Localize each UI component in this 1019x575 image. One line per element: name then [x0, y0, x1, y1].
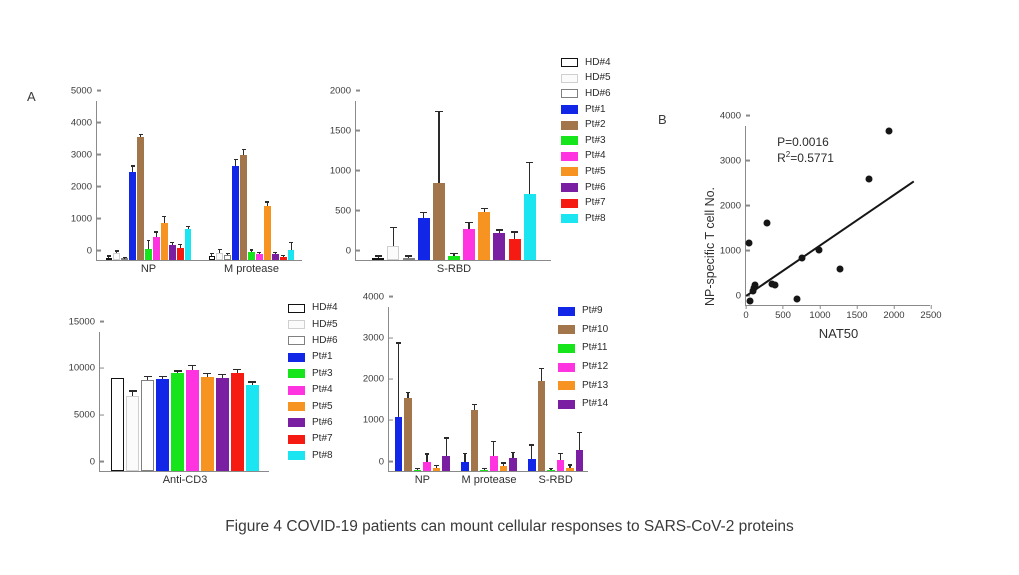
scatter-point: [745, 240, 752, 247]
error-bar-cap: [233, 369, 241, 370]
bar-Pt3-NP: [145, 249, 151, 260]
error-bar-cap: [491, 441, 496, 442]
error-bar: [235, 160, 236, 165]
bar-Pt14-S-RBD: [576, 450, 584, 471]
r-squared-text: R2=0.5771: [777, 150, 834, 166]
error-bar-cap: [265, 201, 269, 202]
legend-label-HD5: HD#5: [585, 73, 611, 83]
error-bar: [453, 254, 454, 255]
legend-label-Pt10: Pt#10: [582, 325, 608, 335]
bar-Pt2-NP: [137, 137, 143, 260]
error-bar: [227, 254, 228, 255]
error-bar-cap: [242, 149, 246, 150]
error-bar: [147, 377, 148, 380]
error-bar: [484, 469, 485, 470]
legend-label-Pt1: Pt#1: [312, 352, 333, 362]
error-bar-cap: [526, 162, 534, 163]
legend-item-HD6: HD#6: [561, 86, 611, 102]
error-bar: [423, 213, 424, 218]
legend-swatch-Pt7: [561, 199, 578, 208]
bar-Pt1-S-RBD: [418, 218, 430, 260]
y-tick-label: 0: [736, 291, 746, 301]
legend-item-Pt12: Pt#12: [558, 358, 608, 377]
legend-label-Pt8: Pt#8: [585, 214, 606, 224]
bar-Pt12-M-protease: [490, 456, 498, 471]
y-tick-label: 0: [346, 246, 356, 256]
error-bar-cap: [115, 250, 119, 251]
error-bar-cap: [529, 444, 534, 445]
chart-np-mprotease: 010002000300040005000NPM protease: [96, 101, 302, 261]
error-bar-cap: [577, 432, 582, 433]
legend-swatch-Pt2: [561, 121, 578, 130]
legend-swatch-Pt3: [288, 369, 305, 378]
legend-label-Pt2: Pt#2: [585, 120, 606, 130]
error-bar: [514, 233, 515, 239]
error-bar: [560, 454, 561, 460]
y-tick-label: 3000: [71, 150, 97, 160]
error-bar: [417, 469, 418, 470]
error-bar-cap: [481, 208, 489, 209]
bar-Pt4-NP: [153, 237, 159, 260]
plot-area-np-mprotease: 010002000300040005000NPM protease: [96, 101, 302, 261]
y-tick-label: 4000: [720, 111, 746, 121]
y-tick-label: 1000: [71, 214, 97, 224]
bar-Pt13-NP: [433, 468, 441, 471]
legend-item-Pt11: Pt#11: [558, 339, 608, 358]
legend-swatch-Pt8: [561, 214, 578, 223]
error-bar-cap: [496, 229, 504, 230]
error-bar-cap: [465, 222, 473, 223]
legend-item-Pt1: Pt#1: [561, 102, 611, 118]
bar-Pt3-M-protease: [248, 252, 254, 260]
error-bar-cap: [472, 404, 477, 405]
error-bar: [222, 375, 223, 378]
error-bar-cap: [226, 253, 230, 254]
error-bar-cap: [188, 365, 196, 366]
error-bar-cap: [511, 231, 519, 232]
bar-Pt7-NP: [177, 248, 183, 260]
error-bar-cap: [203, 373, 211, 374]
bar-Pt9-M-protease: [461, 462, 469, 471]
y-tick-label: 4000: [363, 292, 389, 302]
error-bar-cap: [218, 374, 226, 375]
bar-Pt8-NP: [185, 229, 191, 260]
bar-Pt2-M-protease: [240, 155, 246, 260]
legend-swatch-Pt5: [561, 167, 578, 176]
bar-Pt12-S-RBD: [557, 460, 565, 471]
bar-HD4-M-protease: [209, 256, 215, 260]
bar-Pt5-S-RBD: [478, 212, 490, 260]
plot-area-s-rbd: 0500100015002000S-RBD: [355, 101, 551, 261]
error-bar: [219, 250, 220, 253]
legend-label-Pt3: Pt#3: [585, 136, 606, 146]
legend-swatch-Pt12: [558, 363, 575, 372]
error-bar-cap: [147, 240, 151, 241]
figure-4-root: A B 010002000300040005000NPM protease 05…: [0, 0, 1019, 575]
bar-HD5-M-protease: [216, 253, 222, 260]
legend-label-HD6: HD#6: [312, 336, 338, 346]
group-label-M-protease: M protease: [224, 260, 279, 275]
error-bar-cap: [444, 437, 449, 438]
y-tick-label: 2000: [363, 374, 389, 384]
y-tick-label: 1000: [720, 246, 746, 256]
error-bar: [162, 377, 163, 379]
legend-swatch-Pt11: [558, 344, 575, 353]
scatter-point: [771, 281, 778, 288]
bar-Pt7-S-RBD: [509, 239, 521, 260]
y-tick-label: 3000: [720, 156, 746, 166]
bar-Pt6-NP: [169, 245, 175, 260]
legend-item-Pt6: Pt#6: [561, 180, 611, 196]
bar-Pt9-NP: [395, 417, 403, 471]
legend-item-Pt5: Pt#5: [561, 164, 611, 180]
scatter-point: [752, 281, 759, 288]
legend-swatch-Pt3: [561, 136, 578, 145]
error-bar-cap: [539, 368, 544, 369]
error-bar-cap: [549, 468, 554, 469]
bar-Pt8-S-RBD: [524, 194, 536, 260]
error-bar: [243, 150, 244, 155]
bar-Pt1-Anti-CD3: [156, 379, 169, 471]
y-tick-label: 15000: [69, 317, 100, 327]
legend-swatch-HD4: [561, 58, 578, 67]
panel-a-label: A: [27, 89, 36, 104]
bar-Pt9-S-RBD: [528, 459, 536, 471]
error-bar: [251, 251, 252, 252]
error-bar: [148, 241, 149, 248]
legend-item-Pt8: Pt#8: [561, 211, 611, 227]
legend-item-Pt2: Pt#2: [561, 117, 611, 133]
error-bar: [512, 453, 513, 458]
error-bar: [116, 252, 117, 253]
legend-item-HD6: HD#6: [288, 333, 338, 349]
error-bar-cap: [463, 453, 468, 454]
scatter-point: [866, 175, 873, 182]
bar-Pt1-M-protease: [232, 166, 238, 260]
error-bar: [172, 243, 173, 245]
legend-panel-a-top: HD#4HD#5HD#6Pt#1Pt#2Pt#3Pt#4Pt#5Pt#6Pt#7…: [561, 55, 611, 227]
error-bar-cap: [257, 252, 261, 253]
error-bar: [407, 393, 408, 397]
error-bar: [211, 254, 212, 256]
error-bar-cap: [405, 255, 413, 256]
chart-nat50-correlation: 0100020003000400005001000150020002500NAT…: [745, 126, 930, 306]
scatter-point: [815, 246, 822, 253]
chart-anti-cd3: 050001000015000Anti-CD3: [99, 332, 269, 472]
legend-swatch-Pt7: [288, 435, 305, 444]
x-tick-label: 500: [775, 305, 791, 321]
error-bar-cap: [174, 370, 182, 371]
legend-label-HD4: HD#4: [312, 303, 338, 313]
legend-swatch-Pt8: [288, 451, 305, 460]
bar-HD5-NP: [113, 253, 119, 260]
error-bar-cap: [129, 390, 137, 391]
error-bar-cap: [390, 227, 398, 228]
y-tick-label: 3000: [363, 333, 389, 343]
legend-label-Pt6: Pt#6: [585, 183, 606, 193]
legend-swatch-HD4: [288, 304, 305, 313]
y-axis-title: NP-specific T cell No.: [704, 187, 717, 306]
error-bar-cap: [289, 242, 293, 243]
bar-HD4-Anti-CD3: [111, 378, 124, 471]
legend-item-HD4: HD#4: [561, 55, 611, 71]
error-bar-cap: [450, 253, 458, 254]
error-bar-cap: [234, 159, 238, 160]
error-bar-cap: [434, 465, 439, 466]
legend-item-Pt7: Pt#7: [288, 431, 338, 447]
bar-Pt5-Anti-CD3: [201, 377, 214, 471]
x-axis-title: NAT50: [819, 305, 859, 340]
group-label-S-RBD: S-RBD: [539, 471, 573, 486]
error-bar: [438, 112, 439, 182]
legend-label-Pt5: Pt#5: [312, 402, 333, 412]
error-bar: [550, 469, 551, 470]
legend-item-Pt10: Pt#10: [558, 321, 608, 340]
bar-Pt6-Anti-CD3: [216, 378, 229, 471]
error-bar-cap: [281, 255, 285, 256]
bar-Pt10-NP: [404, 398, 412, 471]
bar-HD4-S-RBD: [372, 258, 384, 260]
legend-item-Pt9: Pt#9: [558, 302, 608, 321]
error-bar: [531, 446, 532, 460]
scatter-point: [794, 296, 801, 303]
y-tick-label: 2000: [71, 182, 97, 192]
bar-Pt10-S-RBD: [538, 381, 546, 471]
x-tick-label: 0: [743, 305, 748, 321]
bar-Pt7-Anti-CD3: [231, 373, 244, 471]
error-bar: [503, 464, 504, 466]
legend-label-Pt3: Pt#3: [312, 369, 333, 379]
error-bar-cap: [107, 255, 111, 256]
legend-label-HD6: HD#6: [585, 89, 611, 99]
error-bar-cap: [396, 342, 401, 343]
legend-label-HD4: HD#4: [585, 58, 611, 68]
y-tick-label: 2000: [330, 86, 356, 96]
legend-swatch-HD6: [288, 336, 305, 345]
bar-HD6-Anti-CD3: [141, 380, 154, 471]
bar-Pt1-NP: [129, 172, 135, 260]
group-label-NP: NP: [415, 471, 430, 486]
legend-label-Pt6: Pt#6: [312, 418, 333, 428]
error-bar: [541, 369, 542, 381]
bar-Pt6-S-RBD: [493, 233, 505, 260]
legend-label-Pt8: Pt#8: [312, 451, 333, 461]
bar-Pt5-M-protease: [264, 206, 270, 260]
error-bar: [464, 454, 465, 462]
error-bar: [446, 439, 447, 456]
legend-pt9-14: Pt#9Pt#10Pt#11Pt#12Pt#13Pt#14: [558, 302, 608, 414]
x-tick-label: 2500: [920, 305, 941, 321]
legend-item-HD5: HD#5: [561, 71, 611, 87]
error-bar: [132, 167, 133, 172]
legend-swatch-Pt9: [558, 307, 575, 316]
error-bar-cap: [435, 111, 443, 112]
error-bar-cap: [250, 249, 254, 250]
bar-Pt4-Anti-CD3: [186, 370, 199, 471]
bar-Pt14-NP: [442, 456, 450, 471]
error-bar: [529, 163, 530, 194]
x-tick-label: 2000: [883, 305, 904, 321]
error-bar: [275, 253, 276, 254]
error-bar: [474, 405, 475, 410]
bar-Pt12-NP: [423, 462, 431, 471]
legend-swatch-Pt6: [288, 418, 305, 427]
error-bar: [108, 257, 109, 258]
legend-swatch-HD6: [561, 89, 578, 98]
legend-item-Pt14: Pt#14: [558, 395, 608, 414]
legend-item-Pt3: Pt#3: [561, 133, 611, 149]
group-label-M-protease: M protease: [461, 471, 516, 486]
error-bar: [188, 227, 189, 228]
legend-item-HD4: HD#4: [288, 300, 338, 316]
bar-Pt8-M-protease: [288, 250, 294, 260]
legend-swatch-Pt10: [558, 325, 575, 334]
y-tick-label: 1000: [363, 416, 389, 426]
error-bar: [267, 203, 268, 206]
scatter-point: [798, 254, 805, 261]
bar-Pt8-Anti-CD3: [246, 385, 259, 471]
scatter-point: [764, 219, 771, 226]
error-bar: [177, 372, 178, 374]
legend-label-Pt9: Pt#9: [582, 306, 603, 316]
legend-swatch-Pt4: [561, 152, 578, 161]
y-tick-label: 0: [90, 457, 100, 467]
error-bar-cap: [248, 381, 256, 382]
error-bar-cap: [154, 231, 158, 232]
error-bar-cap: [501, 462, 506, 463]
legend-swatch-Pt13: [558, 381, 575, 390]
error-bar: [378, 257, 379, 258]
legend-item-Pt1: Pt#1: [288, 349, 338, 365]
scatter-point: [747, 297, 754, 304]
p-value-text: P=0.0016: [777, 134, 834, 150]
plot-area-anti-cd3: 050001000015000Anti-CD3: [99, 332, 269, 472]
legend-label-Pt7: Pt#7: [312, 434, 333, 444]
error-bar-cap: [162, 216, 166, 217]
legend-label-Pt11: Pt#11: [582, 343, 607, 353]
error-bar-cap: [568, 464, 573, 465]
legend-label-Pt1: Pt#1: [585, 105, 606, 115]
error-bar-cap: [406, 392, 411, 393]
error-bar: [436, 466, 437, 467]
y-tick-label: 4000: [71, 118, 97, 128]
error-bar: [259, 253, 260, 254]
legend-swatch-Pt1: [561, 105, 578, 114]
error-bar-cap: [144, 376, 152, 377]
legend-swatch-Pt4: [288, 386, 305, 395]
error-bar: [283, 256, 284, 257]
y-tick-label: 1000: [330, 166, 356, 176]
legend-swatch-Pt1: [288, 353, 305, 362]
legend-item-Pt8: Pt#8: [288, 448, 338, 464]
chart-s-rbd: 0500100015002000S-RBD: [355, 101, 551, 261]
legend-label-Pt4: Pt#4: [312, 385, 333, 395]
error-bar-cap: [420, 212, 428, 213]
bar-HD6-S-RBD: [403, 258, 415, 260]
error-bar-cap: [210, 253, 214, 254]
group-label-S-RBD: S-RBD: [437, 260, 471, 275]
bar-Pt3-Anti-CD3: [171, 373, 184, 471]
error-bar: [398, 344, 399, 417]
bar-Pt2-S-RBD: [433, 183, 445, 260]
error-bar: [499, 231, 500, 233]
y-tick-label: 1500: [330, 126, 356, 136]
regression-line: [746, 180, 915, 296]
legend-swatch-HD5: [561, 74, 578, 83]
legend-item-Pt4: Pt#4: [288, 382, 338, 398]
error-bar-cap: [178, 244, 182, 245]
y-tick-label: 2000: [720, 201, 746, 211]
bar-HD5-Anti-CD3: [126, 396, 139, 471]
bar-Pt4-S-RBD: [463, 229, 475, 260]
error-bar: [164, 217, 165, 223]
legend-swatch-HD5: [288, 320, 305, 329]
legend-label-Pt12: Pt#12: [582, 362, 608, 372]
error-bar-cap: [170, 242, 174, 243]
legend-label-Pt13: Pt#13: [582, 381, 608, 391]
group-label-Anti-CD3: Anti-CD3: [163, 471, 208, 486]
scatter-point: [836, 266, 843, 273]
y-tick-label: 500: [335, 206, 356, 216]
correlation-stats: P=0.0016R2=0.5771: [777, 134, 834, 166]
error-bar-cap: [375, 255, 383, 256]
error-bar-cap: [482, 468, 487, 469]
error-bar-cap: [511, 452, 516, 453]
error-bar: [569, 466, 570, 468]
legend-swatch-Pt6: [561, 183, 578, 192]
legend-label-Pt7: Pt#7: [585, 198, 606, 208]
error-bar-cap: [131, 165, 135, 166]
legend-item-Pt13: Pt#13: [558, 376, 608, 395]
error-bar-cap: [218, 249, 222, 250]
error-bar-cap: [425, 453, 430, 454]
legend-label-Pt5: Pt#5: [585, 167, 606, 177]
legend-item-Pt7: Pt#7: [561, 195, 611, 211]
error-bar: [484, 209, 485, 211]
legend-anti-cd3: HD#4HD#5HD#6Pt#1Pt#3Pt#4Pt#5Pt#6Pt#7Pt#8: [288, 300, 338, 464]
bar-HD4-NP: [106, 258, 112, 260]
panel-b-label: B: [658, 112, 667, 127]
y-tick-label: 0: [379, 457, 389, 467]
bar-Pt10-M-protease: [471, 410, 479, 471]
group-label-NP: NP: [141, 260, 156, 275]
error-bar: [408, 257, 409, 258]
error-bar-cap: [558, 453, 563, 454]
legend-item-Pt6: Pt#6: [288, 415, 338, 431]
error-bar: [180, 245, 181, 248]
error-bar: [252, 383, 253, 386]
legend-label-Pt14: Pt#14: [582, 399, 608, 409]
scatter-point: [886, 127, 893, 134]
y-tick-label: 5000: [71, 86, 97, 96]
error-bar-cap: [273, 252, 277, 253]
legend-label-HD5: HD#5: [312, 320, 338, 330]
error-bar: [426, 455, 427, 462]
plot-area-nat50-correlation: 0100020003000400005001000150020002500NAT…: [745, 126, 930, 306]
y-tick-label: 0: [87, 246, 97, 256]
error-bar-cap: [186, 226, 190, 227]
legend-swatch-Pt5: [288, 402, 305, 411]
bar-Pt5-NP: [161, 223, 167, 260]
legend-item-HD5: HD#5: [288, 316, 338, 332]
legend-item-Pt5: Pt#5: [288, 398, 338, 414]
bar-Pt7-M-protease: [280, 257, 286, 260]
bar-Pt14-M-protease: [509, 458, 517, 471]
error-bar-cap: [159, 376, 167, 377]
error-bar: [132, 392, 133, 396]
error-bar: [393, 228, 394, 246]
error-bar: [468, 223, 469, 229]
